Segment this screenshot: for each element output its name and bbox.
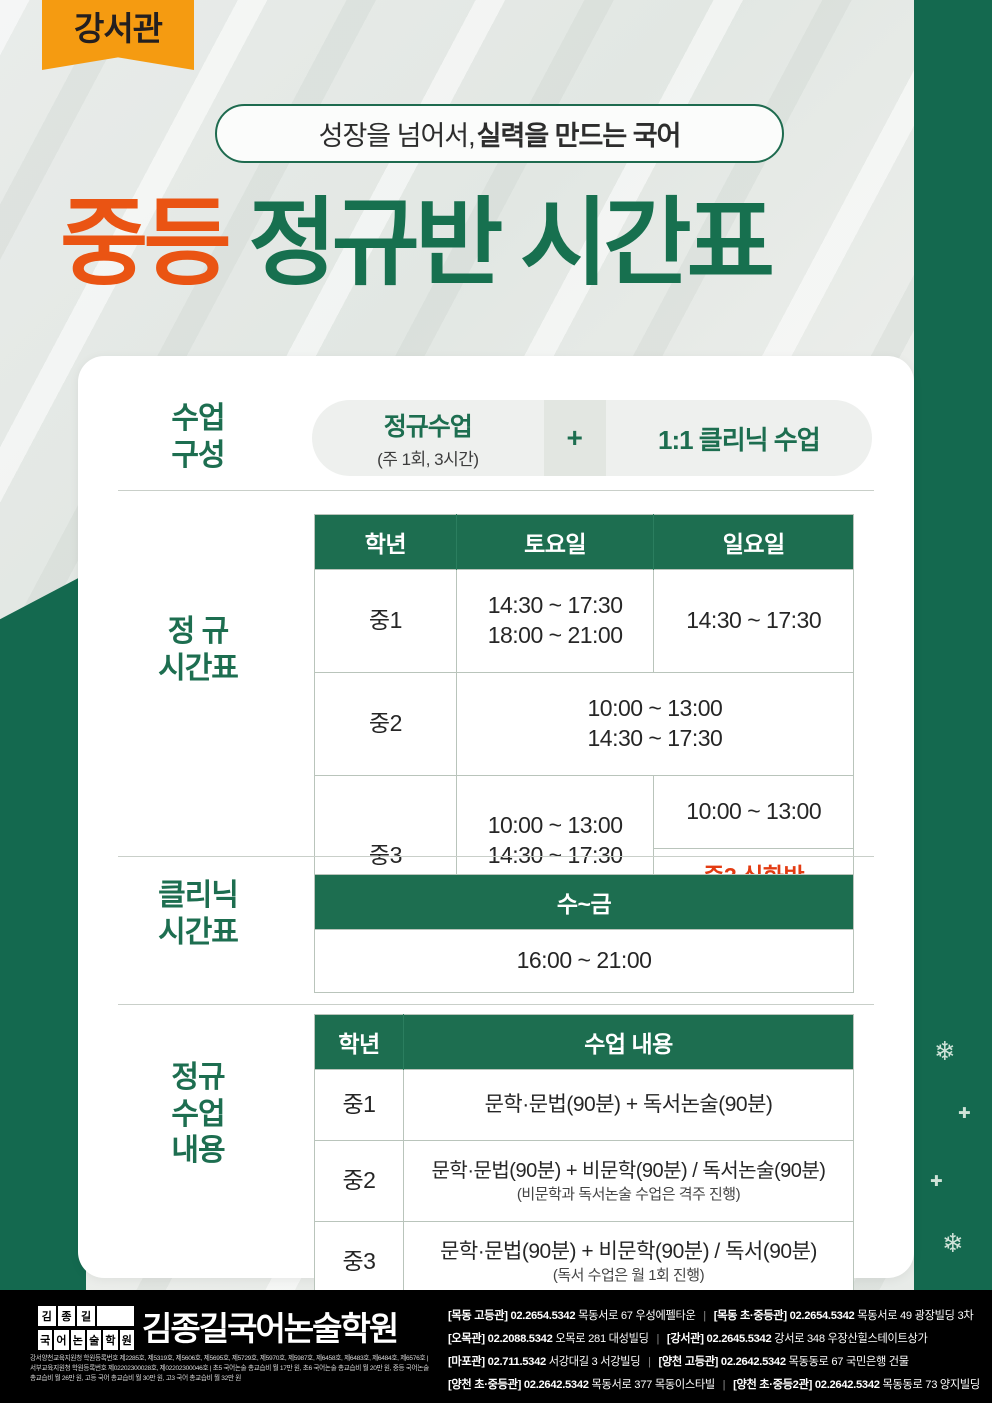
contact-name: [목동 초·중등관] — [714, 1310, 787, 1322]
schedule-label: 정 규 시간표 — [98, 614, 298, 687]
contact-line: [오목관] 02.2088.5342 오목로 281 대성빌딩 | [강서관] … — [448, 1328, 978, 1351]
footer-fineprint: 강서양천교육지원청 학원등록번호 제2285호, 제5319호, 제5606호,… — [30, 1354, 430, 1384]
plus-icon: + — [544, 400, 606, 476]
table-row: 중1 문학·문법(90분) + 독서논술(90분) — [315, 1070, 854, 1141]
slogan-prefix: 성장을 넘어서, — [319, 114, 475, 153]
regular-class-title: 정규수업 — [312, 407, 544, 443]
contact-address: 목동동로 73 양지빌딩 — [883, 1379, 980, 1391]
contact-separator: | — [718, 1379, 731, 1391]
content-grade-2: 중2 — [315, 1141, 404, 1222]
logo-mark-top-row: 김 종 길 — [38, 1306, 134, 1326]
clinic-class-title: 1:1 클리닉 수업 — [606, 420, 872, 457]
contact-name: [오목관] — [448, 1333, 485, 1345]
slogan-emphasis: 실력을 만드는 국어 — [477, 114, 681, 153]
content-header-row: 학년 수업 내용 — [315, 1015, 854, 1070]
logo-mark-char-2: 길 — [77, 1306, 95, 1326]
content-card: 수업 구성 정규수업 (주 1회, 3시간) + 1:1 클리닉 수업 정 규 … — [78, 356, 914, 1278]
contact-separator: | — [643, 1356, 656, 1368]
content-desc-1: 문학·문법(90분) + 독서논술(90분) — [404, 1070, 854, 1141]
clinic-label-line2: 시간표 — [98, 915, 298, 952]
footer: 김 종 길 국 어 논 술 학 원 김종길국어논술학원 강서양천교육지원청 학원… — [0, 1290, 992, 1403]
contact-address: 목동동로 67 국민은행 건물 — [789, 1356, 909, 1368]
composition-section: 수업 구성 정규수업 (주 1회, 3시간) + 1:1 클리닉 수업 — [98, 386, 894, 490]
clinic-table: 수~금 16:00 ~ 21:00 — [314, 874, 854, 993]
contact-address: 서강대길 3 서강빌딩 — [549, 1356, 640, 1368]
footer-contacts: [목동 고등관] 02.2654.5342 목동서로 67 우성에펠타운 | [… — [448, 1305, 978, 1397]
page-title-orange: 중등 — [60, 190, 227, 297]
contact-name: [양천 초·중등2관] — [733, 1379, 812, 1391]
schedule-header-grade: 학년 — [315, 515, 457, 570]
logo-mark-char-7: 학 — [103, 1330, 117, 1350]
contact-line: [마포관] 02.711.5342 서강대길 3 서강빌딩 | [양천 고등관]… — [448, 1351, 978, 1374]
contact-separator: | — [698, 1310, 711, 1322]
logo-mark-char-6: 술 — [87, 1330, 101, 1350]
contact-address: 목동서로 377 목동이스타빌 — [592, 1379, 715, 1391]
contact-name: [양천 고등관] — [658, 1356, 718, 1368]
contact-line: [양천 초·중등관] 02.2642.5342 목동서로 377 목동이스타빌 … — [448, 1374, 978, 1397]
composition-label-line2: 구성 — [98, 438, 298, 475]
contact-phone: 02.2645.5342 — [707, 1333, 772, 1345]
logo-mark-bottom-row: 국 어 논 술 학 원 — [38, 1330, 134, 1350]
academy-logo: 김 종 길 국 어 논 술 학 원 김종길국어논술학원 — [38, 1306, 397, 1350]
page-title: 중등 정규반 시간표 — [60, 196, 940, 292]
contact-phone: 02.711.5342 — [488, 1356, 546, 1368]
contact-phone: 02.2642.5342 — [524, 1379, 589, 1391]
logo-mark-char-3: 국 — [38, 1330, 52, 1350]
contact-address: 목동서로 67 우성에펠타운 — [578, 1310, 695, 1322]
contact-phone: 02.2654.5342 — [790, 1310, 855, 1322]
content-header-desc: 수업 내용 — [404, 1015, 854, 1070]
content-desc-2: 문학·문법(90분) + 비문학(90분) / 독서논술(90분) (비문학과 … — [404, 1141, 854, 1222]
content-label-line3: 내용 — [98, 1133, 298, 1170]
content-label-line2: 수업 — [98, 1097, 298, 1134]
poster-root: ❄ ✚ ✚ ❄ 강서관 성장을 넘어서, 실력을 만드는 국어 중등 정규반 시… — [0, 0, 992, 1403]
schedule-label-line2: 시간표 — [98, 651, 298, 688]
divider-1 — [118, 490, 874, 491]
page-title-green: 정규반 시간표 — [248, 190, 770, 297]
table-row: 16:00 ~ 21:00 — [315, 930, 854, 993]
logo-mark-char-5: 논 — [71, 1330, 85, 1350]
composition-bar: 정규수업 (주 1회, 3시간) + 1:1 클리닉 수업 — [312, 400, 872, 476]
clinic-header-days: 수~금 — [315, 875, 854, 930]
content-note-2: (비문학과 독서논술 수업은 격주 진행) — [408, 1185, 849, 1205]
schedule-header-saturday: 토요일 — [456, 515, 654, 570]
table-row: 중2 10:00 ~ 13:00 14:30 ~ 17:30 — [315, 673, 854, 776]
schedule-label-line1: 정 규 — [98, 614, 298, 651]
green-right-band — [914, 0, 992, 1290]
schedule-header-sunday: 일요일 — [654, 515, 854, 570]
content-note-3: (독서 수업은 월 1회 진행) — [408, 1266, 849, 1286]
logo-mark-english — [97, 1306, 134, 1326]
contact-phone: 02.2642.5342 — [721, 1356, 786, 1368]
schedule-sat-1: 14:30 ~ 17:30 18:00 ~ 21:00 — [456, 570, 654, 673]
content-label: 정규 수업 내용 — [98, 1060, 298, 1170]
composition-label: 수업 구성 — [98, 401, 298, 474]
contact-phone: 02.2088.5342 — [488, 1333, 553, 1345]
logo-mark-char-0: 김 — [38, 1306, 56, 1326]
content-header-grade: 학년 — [315, 1015, 404, 1070]
schedule-grade-1: 중1 — [315, 570, 457, 673]
schedule-sun-3-top: 10:00 ~ 13:00 — [654, 776, 854, 849]
content-table: 학년 수업 내용 중1 문학·문법(90분) + 독서논술(90분) 중2 문학… — [314, 1014, 854, 1303]
schedule-sun-1: 14:30 ~ 17:30 — [654, 570, 854, 673]
content-label-line1: 정규 — [98, 1060, 298, 1097]
branch-badge-label: 강서관 — [74, 0, 162, 45]
contact-address: 강서로 348 우장산힐스테이트상가 — [774, 1333, 927, 1345]
table-row: 중2 문학·문법(90분) + 비문학(90분) / 독서논술(90분) (비문… — [315, 1141, 854, 1222]
contact-name: [목동 고등관] — [448, 1310, 508, 1322]
schedule-header-row: 학년 토요일 일요일 — [315, 515, 854, 570]
logo-mark-icon: 김 종 길 국 어 논 술 학 원 — [38, 1306, 134, 1350]
academy-name: 김종길국어논술학원 — [142, 1312, 397, 1345]
contact-separator: | — [651, 1333, 664, 1345]
schedule-merged-2: 10:00 ~ 13:00 14:30 ~ 17:30 — [456, 673, 853, 776]
schedule-grade-2: 중2 — [315, 673, 457, 776]
logo-mark-char-1: 종 — [58, 1306, 76, 1326]
content-grade-1: 중1 — [315, 1070, 404, 1141]
composition-label-line1: 수업 — [98, 401, 298, 438]
clinic-time: 16:00 ~ 21:00 — [315, 930, 854, 993]
content-desc-2-main: 문학·문법(90분) + 비문학(90분) / 독서논술(90분) — [432, 1160, 826, 1182]
content-desc-3-main: 문학·문법(90분) + 비문학(90분) / 독서(90분) — [440, 1240, 817, 1263]
table-row: 중3 10:00 ~ 13:00 14:30 ~ 17:30 18:00 ~ 2… — [315, 776, 854, 849]
contact-phone: 02.2642.5342 — [815, 1379, 880, 1391]
contact-line: [목동 고등관] 02.2654.5342 목동서로 67 우성에펠타운 | [… — [448, 1305, 978, 1328]
table-row: 중1 14:30 ~ 17:30 18:00 ~ 21:00 14:30 ~ 1… — [315, 570, 854, 673]
divider-2 — [118, 856, 874, 857]
regular-class-block: 정규수업 (주 1회, 3시간) — [312, 407, 544, 470]
clinic-label: 클리닉 시간표 — [98, 878, 298, 951]
contact-name: [마포관] — [448, 1356, 485, 1368]
divider-3 — [118, 1004, 874, 1005]
contact-phone: 02.2654.5342 — [510, 1310, 575, 1322]
contact-name: [양천 초·중등관] — [448, 1379, 521, 1391]
clinic-header-row: 수~금 — [315, 875, 854, 930]
regular-class-sub: (주 1회, 3시간) — [312, 445, 544, 470]
logo-mark-char-8: 원 — [120, 1330, 134, 1350]
branch-badge: 강서관 — [42, 0, 194, 70]
contact-name: [강서관] — [667, 1333, 704, 1345]
contact-address: 목동서로 49 광장빌딩 3차 — [857, 1310, 973, 1322]
slogan-pill: 성장을 넘어서, 실력을 만드는 국어 — [215, 104, 784, 163]
clinic-label-line1: 클리닉 — [98, 878, 298, 915]
schedule-table: 학년 토요일 일요일 중1 14:30 ~ 17:30 18:00 ~ 21:0… — [314, 514, 854, 936]
contact-address: 오목로 281 대성빌딩 — [555, 1333, 648, 1345]
logo-mark-char-4: 어 — [54, 1330, 68, 1350]
